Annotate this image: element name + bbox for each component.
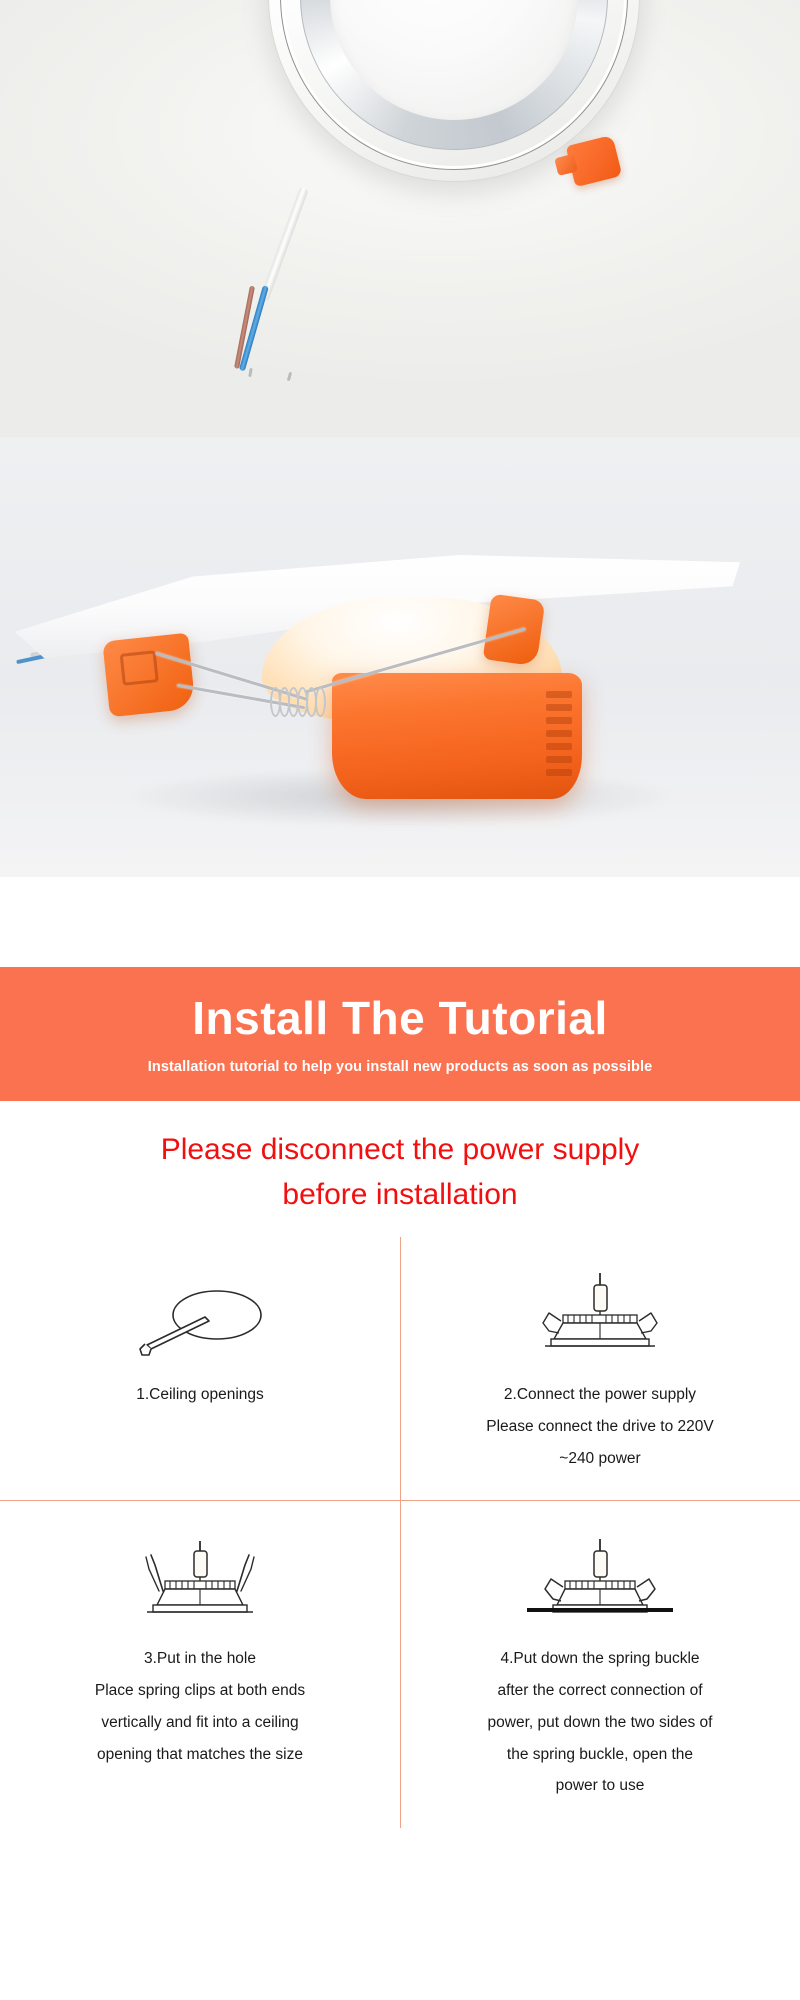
- step-2-line-1: 2.Connect the power supply: [486, 1379, 713, 1411]
- step-1-line-1: 1.Ceiling openings: [136, 1379, 264, 1411]
- step-4-line-5: power to use: [488, 1770, 713, 1802]
- step-2-caption: 2.Connect the power supply Please connec…: [486, 1379, 713, 1474]
- install-tutorial-banner: Install The Tutorial Installation tutori…: [0, 967, 800, 1101]
- step-4-line-1: 4.Put down the spring buckle: [488, 1643, 713, 1675]
- spring-buckle-left: [102, 633, 195, 718]
- downlight-springs-up-svg: [115, 1535, 285, 1621]
- step-2-line-3: ~240 power: [486, 1443, 713, 1475]
- coil-spring-icon: [270, 687, 334, 717]
- step-3-line-4: opening that matches the size: [95, 1739, 305, 1771]
- step-4-line-2: after the correct connection of: [488, 1675, 713, 1707]
- step-2-connect-power: 2.Connect the power supply Please connec…: [400, 1237, 800, 1500]
- downlight-installed-icon: [515, 1535, 685, 1621]
- downlight-springs-up-icon: [115, 1535, 285, 1621]
- step-1-caption: 1.Ceiling openings: [136, 1379, 264, 1411]
- product-photo-side-view: [0, 437, 800, 877]
- downlight-wiring-svg: [515, 1271, 685, 1357]
- banner-title: Install The Tutorial: [192, 993, 608, 1044]
- hole-saw-svg: [125, 1287, 275, 1357]
- step-4-line-4: the spring buckle, open the: [488, 1739, 713, 1771]
- installation-steps-grid: 1.Ceiling openings: [0, 1237, 800, 1828]
- power-warning: Please disconnect the power supply befor…: [0, 1101, 800, 1237]
- banner-subtitle: Installation tutorial to help you instal…: [148, 1059, 653, 1075]
- step-3-line-1: 3.Put in the hole: [95, 1643, 305, 1675]
- heatsink-fins-icon: [546, 691, 572, 782]
- downlight-orange-housing: [332, 673, 582, 799]
- warning-line-1: Please disconnect the power supply: [40, 1127, 760, 1172]
- step-4-line-3: power, put down the two sides of: [488, 1707, 713, 1739]
- step-3-line-2: Place spring clips at both ends: [95, 1675, 305, 1707]
- step-2-line-2: Please connect the drive to 220V: [486, 1411, 713, 1443]
- downlight-installed-svg: [515, 1535, 685, 1621]
- step-4-put-down-spring-buckle: 4.Put down the spring buckle after the c…: [400, 1501, 800, 1828]
- hole-saw-icon: [125, 1271, 275, 1357]
- step-1-ceiling-openings: 1.Ceiling openings: [0, 1237, 400, 1500]
- step-3-put-in-the-hole: 3.Put in the hole Place spring clips at …: [0, 1501, 400, 1828]
- section-spacer: [0, 877, 800, 967]
- step-4-caption: 4.Put down the spring buckle after the c…: [488, 1643, 713, 1802]
- step-3-line-3: vertically and fit into a ceiling: [95, 1707, 305, 1739]
- product-photo-top-view: [0, 0, 800, 437]
- warning-line-2: before installation: [40, 1172, 760, 1217]
- step-3-caption: 3.Put in the hole Place spring clips at …: [95, 1643, 305, 1770]
- downlight-wiring-icon: [515, 1271, 685, 1357]
